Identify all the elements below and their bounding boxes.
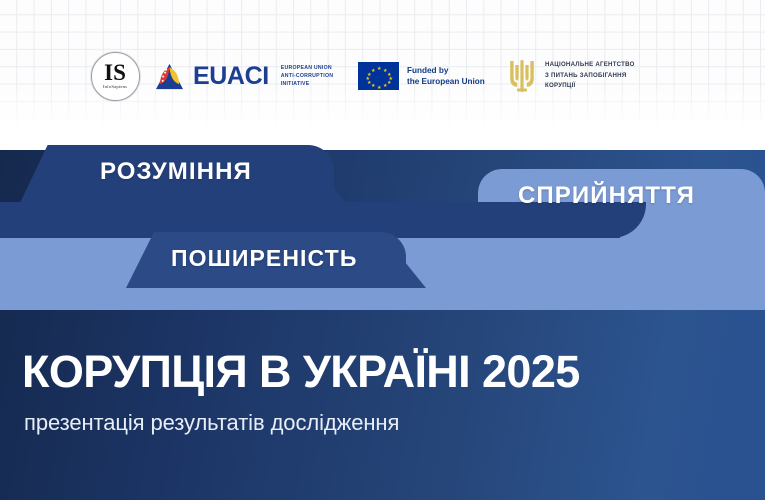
eu-funding-text: Funded by the European Union [407,65,485,88]
euaci-tagline-line3: INITIATIVE [281,80,333,88]
infosapiens-submark: InfoSapiens [103,84,127,89]
presentation-title-slide: IS InfoSapiens EUACI EUROPEAN UNION ANTI… [0,0,765,500]
euaci-tagline-line2: ANTI-CORRUPTION [281,72,333,80]
eu-flag-icon: ★ ★ ★ ★ ★ ★ ★ ★ ★ ★ ★ ★ [358,62,399,90]
eu-funding-line2: the European Union [407,76,485,87]
infosapiens-mark: IS [104,63,126,83]
tab-label-understanding[interactable]: РОЗУМІННЯ [100,158,252,186]
trident-icon [508,58,536,94]
infosapiens-emblem-icon: IS InfoSapiens [91,52,140,101]
nazk-line1: НАЦІОНАЛЬНЕ АГЕНТСТВО [545,60,635,71]
nazk-line3: КОРУПЦІЇ [545,81,635,92]
euaci-tagline-line1: EUROPEAN UNION [281,64,333,72]
logo-infosapiens: IS InfoSapiens [77,52,153,101]
euaci-wordmark: EUACI [193,64,269,89]
logo-row: IS InfoSapiens EUACI EUROPEAN UNION ANTI… [0,48,765,104]
euaci-tagline: EUROPEAN UNION ANTI-CORRUPTION INITIATIV… [281,64,333,88]
slide-subheadline: презентація результатів дослідження [24,409,399,437]
logo-euaci: EUACI EUROPEAN UNION ANTI-CORRUPTION INI… [153,61,358,92]
nazk-line2: З ПИТАНЬ ЗАПОБІГАННЯ [545,71,635,82]
logo-funded-by-eu: ★ ★ ★ ★ ★ ★ ★ ★ ★ ★ ★ ★ Funded by the Eu… [358,62,508,90]
tab-label-prevalence[interactable]: ПОШИРЕНІСТЬ [171,245,357,272]
logo-nazk: НАЦІОНАЛЬНЕ АГЕНТСТВО З ПИТАНЬ ЗАПОБІГАН… [508,58,688,94]
slide-headline: КОРУПЦІЯ В УКРАЇНІ 2025 [22,346,580,398]
tab-label-perception[interactable]: СПРИЙНЯТТЯ [518,182,695,210]
euaci-emblem-icon [153,61,186,92]
eu-funding-line1: Funded by [407,65,485,76]
nazk-text: НАЦІОНАЛЬНЕ АГЕНТСТВО З ПИТАНЬ ЗАПОБІГАН… [545,60,635,92]
